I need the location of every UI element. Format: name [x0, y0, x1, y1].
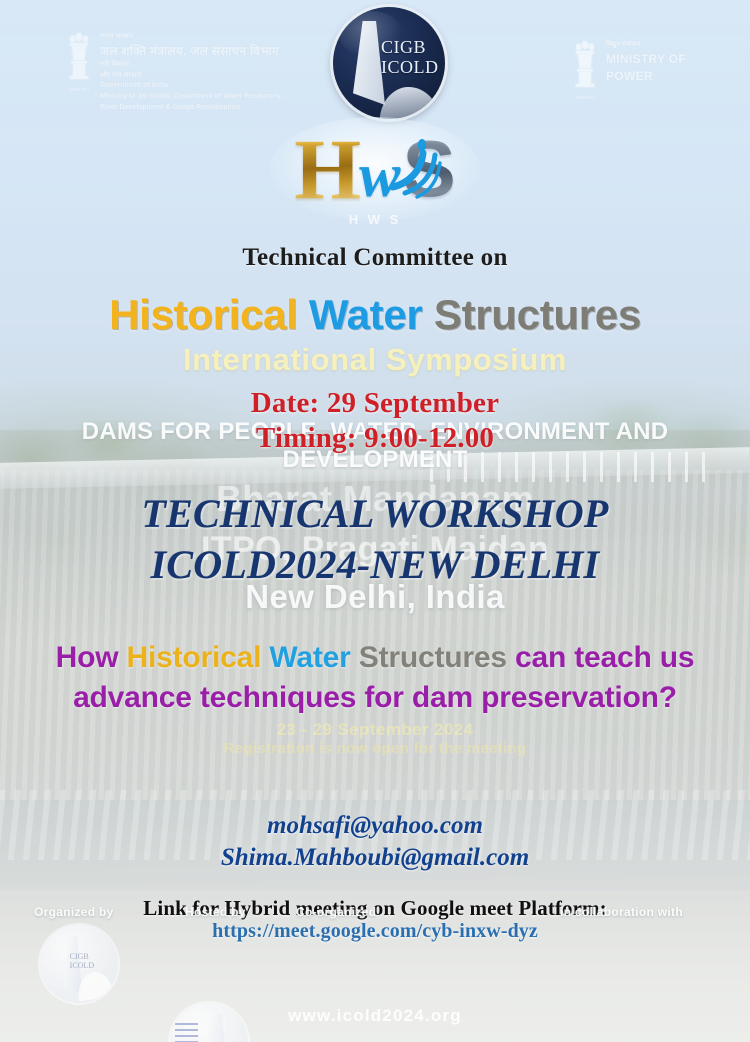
title-word-structures: Structures: [434, 291, 641, 338]
icold-logo-line-2: ICOLD: [381, 57, 441, 77]
event-datetime: Date: 29 September Timing: 9:00-12.00: [0, 386, 750, 457]
hws-letter-h: H: [294, 126, 361, 212]
gov-left-line-1: भारत सरकार: [100, 33, 282, 42]
ashoka-emblem-icon: [572, 38, 598, 94]
workshop-line-2: ICOLD2024-NEW DELHI: [0, 539, 750, 590]
credit-in-collaboration: in collaboration with: [560, 905, 683, 919]
page-title: Historical Water Structures: [0, 294, 750, 336]
gov-left-text-lines: भारत सरकार जल शक्ति मंत्रालय, जल संसाधन …: [100, 30, 282, 113]
title-word-water: Water: [309, 291, 423, 338]
committee-prefix: Technical Committee on: [0, 244, 750, 272]
icold-gloss-highlight: [339, 11, 403, 57]
water-wave-icon: [383, 131, 443, 203]
title-word-historical: Historical: [109, 291, 297, 338]
icold-arc-shape-icon: [375, 83, 442, 119]
cigb-icold-logo: CIGB ICOLD: [333, 7, 445, 119]
gov-left-line-5: Government of India: [100, 82, 282, 91]
ministry-power-hindi: विद्युत मंत्रालय: [606, 41, 686, 50]
question-word-water: Water: [269, 641, 350, 674]
gov-left-line-6: Ministry of Jal Shakti, Department of Wa…: [100, 93, 282, 102]
emblem-caption-left: सत्यमेव जयते: [66, 87, 92, 93]
arc-shape-icon: [76, 969, 115, 1000]
gov-right-text-lines: विद्युत मंत्रालय MINISTRY OF POWER: [606, 38, 686, 84]
contact-email-2[interactable]: Shima.Mahboubi@gmail.com: [0, 842, 750, 874]
credit-hosted-by: Hosted by: [185, 905, 246, 919]
ministry-power-line-2: POWER: [606, 69, 686, 84]
credit-organized-by: Organized by: [34, 905, 114, 919]
question-space-2: [351, 641, 359, 674]
workshop-line-1: TECHNICAL WORKSHOP: [0, 488, 750, 539]
footer-logo-cigb-text: CIGB ICOLD: [70, 953, 112, 971]
poster-canvas: International Symposium DAMS FOR PEOPLE,…: [0, 0, 750, 1042]
workshop-heading: TECHNICAL WORKSHOP ICOLD2024-NEW DELHI: [0, 488, 750, 590]
ashoka-emblem-icon: [66, 30, 92, 86]
contact-email-1[interactable]: mohsafi@yahoo.com: [0, 810, 750, 842]
ministry-power-line-1: MINISTRY OF: [606, 52, 686, 67]
footer-logo-cigb-line-2: ICOLD: [70, 962, 112, 971]
question-word-historical: Historical: [127, 641, 262, 674]
spillway-stripes-icon: [175, 1023, 198, 1042]
ministry-of-jal-shakti-emblem: सत्यमेव जयते भारत सरकार जल शक्ति मंत्राल…: [66, 30, 256, 102]
gov-left-line-7: River Development & Ganga Rejuvenation: [100, 104, 282, 113]
question-part-1: How: [56, 641, 127, 674]
ministry-of-power-emblem: सत्यमेव जयते विद्युत मंत्रालय MINISTRY O…: [572, 38, 742, 100]
hws-logo: H w S H W S: [225, 115, 525, 223]
credit-co-organized: Co-organized: [296, 905, 376, 919]
event-date: Date: 29 September: [0, 386, 750, 421]
dam-shape-icon: [204, 1014, 227, 1042]
contact-emails: mohsafi@yahoo.com Shima.Mahboubi@gmail.c…: [0, 810, 750, 874]
emblem-caption-right: सत्यमेव जयते: [572, 95, 598, 101]
session-question: How Historical Water Structures can teac…: [0, 638, 750, 718]
gov-left-line-2: जल शक्ति मंत्रालय, जल संसाधन विभाग: [100, 44, 282, 59]
footer-logo-cigb-icold: CIGB ICOLD: [40, 925, 118, 1003]
question-word-structures: Structures: [359, 641, 507, 674]
gov-left-line-3: नदी विकास: [100, 61, 282, 70]
gov-left-line-4: और गंगा संरक्षण: [100, 72, 282, 81]
event-timing: Timing: 9:00-12.00: [0, 421, 750, 456]
google-meet-link[interactable]: https://meet.google.com/cyb-inxw-dyz: [0, 920, 750, 943]
